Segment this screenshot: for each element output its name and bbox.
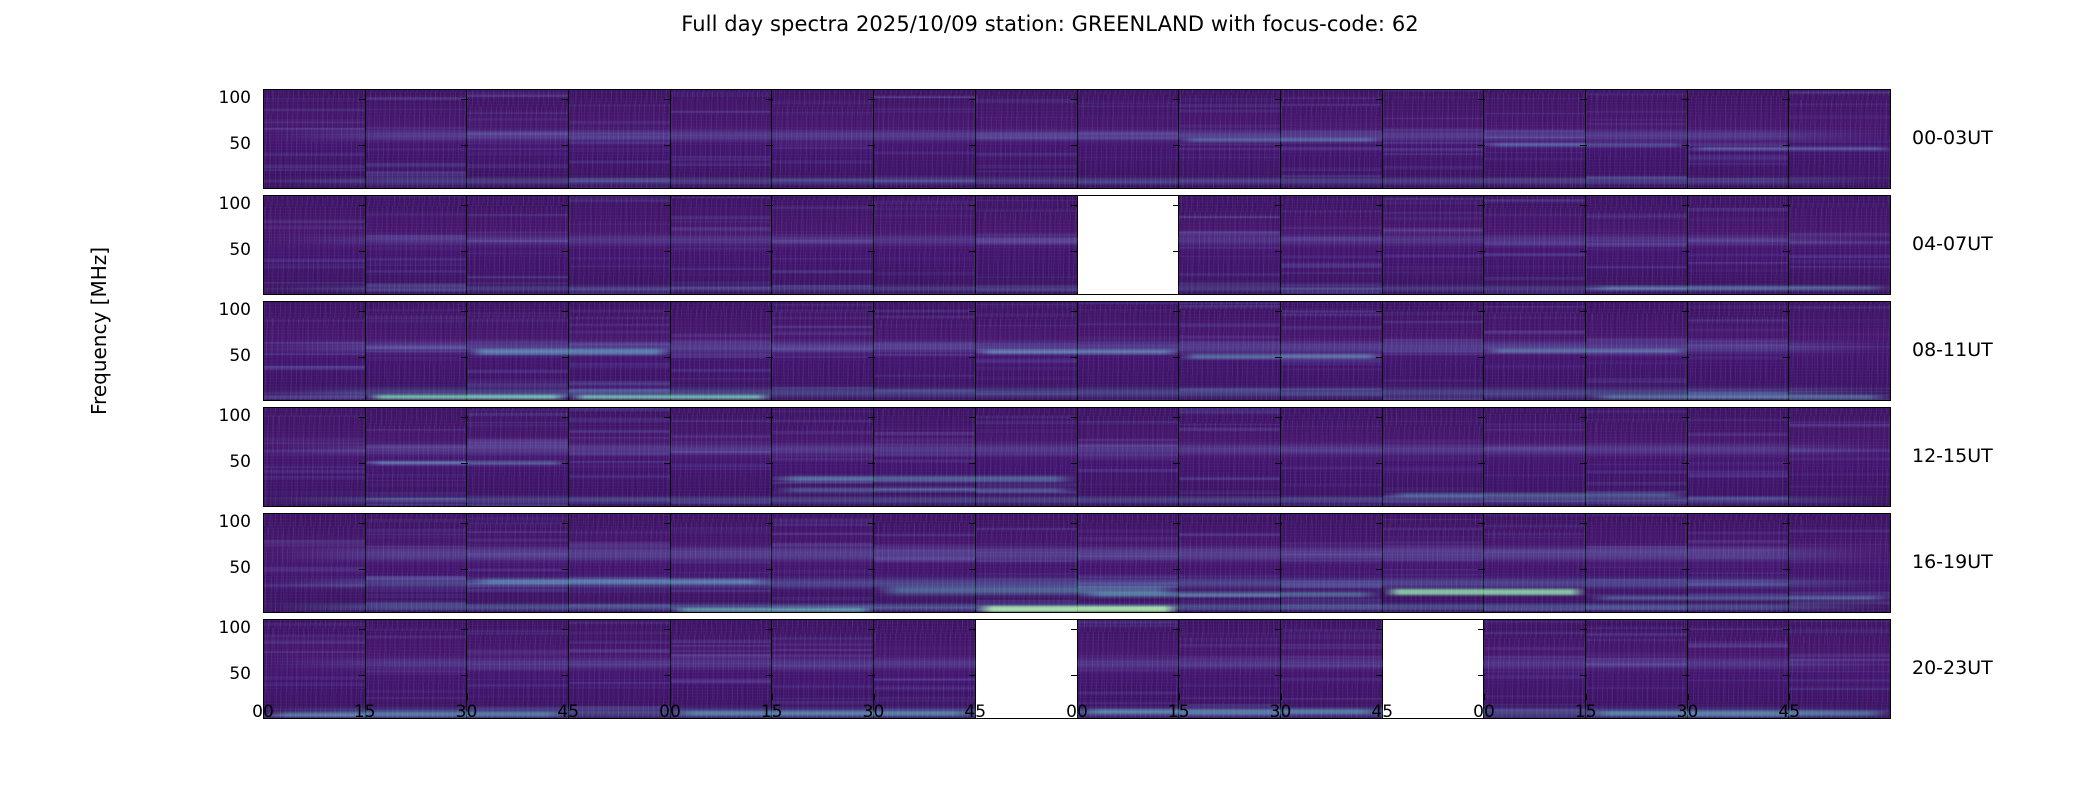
panel-spectrogram (976, 196, 1078, 294)
spectral-streak (1281, 256, 1382, 258)
spectral-streak (366, 576, 467, 579)
panel-noise-base (264, 408, 366, 506)
spectral-streak (467, 231, 568, 234)
spectral-streak (1789, 399, 1890, 400)
spectral-streak (1078, 711, 1179, 713)
spectral-streak (772, 285, 873, 287)
panel-noise-base (1586, 196, 1688, 294)
y-tick-mark-inner (1783, 357, 1790, 358)
spectral-streak (874, 440, 975, 441)
spectral-streak (1586, 605, 1687, 606)
panel-noise-speckle (976, 408, 1078, 506)
spectral-streak (874, 310, 975, 312)
panel-spectrogram (1484, 302, 1586, 400)
spectral-streak (874, 679, 975, 681)
spectral-streak (1179, 595, 1280, 598)
spectral-streak (874, 316, 975, 318)
panel-noise-speckle (1179, 196, 1281, 294)
panel-noise-speckle (1281, 302, 1383, 400)
panel-noise-speckle (874, 620, 976, 718)
spectral-streak (1688, 643, 1789, 644)
spectral-streak (671, 334, 772, 336)
spectrogram-row (263, 301, 1891, 401)
y-tick-mark-inner (1580, 251, 1587, 252)
spectral-streak (1484, 537, 1585, 538)
spectral-streak (976, 430, 1077, 432)
spectral-streak (1688, 219, 1789, 220)
spectral-streak (1484, 242, 1585, 244)
spectral-streak (366, 429, 467, 431)
panel-noise-base (874, 620, 976, 718)
panel-spectrogram (264, 302, 366, 400)
spectral-streak (1383, 142, 1484, 144)
spectral-streak (1688, 254, 1789, 255)
spectral-streak (772, 271, 873, 273)
panel-noise-base (1789, 196, 1890, 294)
spectral-streak (1179, 125, 1280, 126)
panel-spectrogram (1179, 514, 1281, 612)
spectral-streak (1281, 571, 1382, 573)
spectral-streak (1586, 94, 1687, 96)
spectral-streak (264, 567, 365, 570)
spectral-streak (1179, 247, 1280, 249)
spectral-streak (264, 498, 365, 499)
y-tick-mark-inner (969, 251, 976, 252)
spectral-streak (976, 133, 1077, 135)
spectral-streak (671, 654, 772, 656)
spectral-streak (1789, 260, 1890, 263)
y-tick-mark-inner (969, 99, 976, 100)
spectral-streak (671, 340, 772, 343)
panel-noise-base (874, 302, 976, 400)
spectral-streak (1078, 157, 1179, 159)
spectral-streak (1688, 473, 1789, 476)
spectral-streak (467, 583, 568, 585)
spectral-streak (467, 153, 568, 155)
y-tick-mark-inner (1682, 523, 1689, 524)
spectral-streak (467, 440, 568, 443)
spectral-streak (976, 349, 1077, 352)
panel-spectrogram (1688, 514, 1790, 612)
spectral-streak (1484, 306, 1585, 308)
spectral-streak (366, 629, 467, 630)
panel-spectrogram (1688, 408, 1790, 506)
spectral-streak (1179, 98, 1280, 100)
x-tick-mark (1281, 694, 1282, 700)
spectral-streak (467, 394, 568, 396)
spectral-streak (264, 392, 365, 394)
spectral-streak (1078, 586, 1179, 588)
spectral-streak (366, 534, 467, 535)
spectral-streak (467, 95, 568, 97)
spectral-streak (467, 679, 568, 680)
spectral-streak (1078, 102, 1179, 104)
x-tick-label: 15 (1575, 702, 1597, 722)
spectral-streak (671, 640, 772, 643)
spectral-streak (671, 378, 772, 380)
spectral-streak (772, 325, 873, 328)
spectral-streak (1789, 458, 1890, 461)
y-tick-mark-inner (868, 417, 875, 418)
panel-spectrogram (1484, 196, 1586, 294)
spectral-streak (1383, 212, 1484, 214)
spectral-streak (1179, 357, 1280, 359)
spectral-streak (671, 531, 772, 533)
spectral-streak (1281, 227, 1382, 229)
y-tick-mark-inner (1173, 145, 1180, 146)
spectral-streak (1789, 598, 1890, 599)
panel-noise-speckle (366, 620, 468, 718)
spectral-streak (569, 475, 670, 478)
spectral-streak (1484, 424, 1585, 425)
spectral-streak (366, 235, 467, 237)
spectral-streak (772, 312, 873, 314)
spectral-streak (671, 197, 772, 198)
spectral-streak (467, 282, 568, 284)
panel-spectrogram (671, 196, 773, 294)
spectral-streak (1484, 152, 1585, 153)
spectral-streak (366, 213, 467, 216)
spectral-streak (1179, 638, 1280, 641)
spectral-streak (569, 363, 670, 366)
spectral-streak (264, 540, 365, 542)
spectral-streak (976, 600, 1077, 603)
spectral-streak (1688, 572, 1789, 574)
panel-noise-speckle (1789, 196, 1890, 294)
spectral-streak (976, 238, 1077, 240)
spectral-streak (1078, 665, 1179, 666)
spectral-streak (366, 309, 467, 311)
panel-spectrogram (1484, 408, 1586, 506)
spectral-streak (1484, 214, 1585, 216)
spectral-streak (569, 604, 670, 607)
spectral-streak (264, 122, 365, 124)
y-tick-mark-inner (1478, 251, 1485, 252)
spectral-streak (1688, 475, 1789, 476)
panel-spectrogram (1281, 90, 1383, 188)
spectral-streak (1179, 256, 1280, 257)
spectral-streak (671, 503, 772, 504)
panel-spectrogram (569, 514, 671, 612)
spectral-streak (1281, 363, 1382, 364)
spectral-streak (976, 304, 1077, 305)
y-tick-mark-inner (1173, 357, 1180, 358)
spectral-streak (569, 531, 670, 534)
panel-spectrogram (1789, 302, 1890, 400)
spectral-streak (467, 137, 568, 138)
spectral-streak (976, 171, 1077, 173)
spectral-streak (1688, 357, 1789, 359)
spectral-streak (671, 562, 772, 563)
spectral-streak (1789, 241, 1890, 244)
spectral-streak (1281, 585, 1382, 588)
spectral-streak (1179, 157, 1280, 158)
x-tick-label: 45 (964, 702, 986, 722)
spectral-streak (874, 678, 975, 679)
y-tick-mark-inner (868, 675, 875, 676)
spectral-streak (1688, 319, 1789, 322)
figure-title: Full day spectra 2025/10/09 station: GRE… (0, 12, 2100, 36)
spectral-streak (467, 313, 568, 314)
y-tick-mark-inner (1783, 629, 1790, 630)
spectral-streak (1484, 447, 1585, 449)
spectral-streak (1383, 505, 1484, 506)
y-tick-mark-inner (766, 311, 773, 312)
spectral-streak (1688, 641, 1789, 643)
spectral-streak (1179, 104, 1280, 107)
y-tick-mark-inner (1783, 417, 1790, 418)
panel-noise-base (569, 514, 671, 612)
spectral-streak (264, 603, 365, 604)
panel-noise-speckle (671, 90, 773, 188)
spectral-streak (1789, 424, 1890, 427)
spectral-streak (976, 573, 1077, 575)
spectral-streak (1484, 253, 1585, 255)
spectral-streak (264, 714, 365, 716)
spectral-streak (1789, 424, 1890, 426)
spectral-streak (1383, 321, 1484, 323)
spectral-streak (976, 136, 1077, 139)
y-tick-mark-inner (1275, 311, 1282, 312)
spectral-streak (1688, 396, 1789, 398)
panel-noise-base (1281, 408, 1383, 506)
panel-noise-speckle (772, 196, 874, 294)
x-tick-mark (467, 694, 468, 700)
spectral-streak (1383, 549, 1484, 552)
panel-spectrogram (874, 620, 976, 718)
panel-noise-speckle (1383, 302, 1485, 400)
spectral-streak (467, 504, 568, 506)
spectral-streak (1179, 534, 1280, 536)
y-tick-mark-inner (1478, 357, 1485, 358)
spectral-streak (671, 369, 772, 372)
spectral-streak (1789, 421, 1890, 423)
spectral-streak (874, 557, 975, 560)
spectral-streak (366, 127, 467, 129)
spectral-streak (1789, 474, 1890, 475)
spectral-streak (976, 234, 1077, 235)
spectral-streak (1688, 645, 1789, 648)
spectral-streak (671, 590, 772, 592)
spectral-streak (569, 389, 670, 391)
spectral-streak (1688, 392, 1789, 395)
spectral-streak (1484, 143, 1585, 145)
spectral-streak (569, 137, 670, 139)
spectral-streak (772, 519, 873, 522)
spectral-streak (467, 445, 568, 448)
spectral-streak (1179, 323, 1280, 325)
y-tick-mark-inner (562, 205, 569, 206)
panel-noise-speckle (366, 408, 468, 506)
spectral-streak (1281, 266, 1382, 268)
spectral-streak (467, 668, 568, 669)
spectral-streak (264, 542, 365, 545)
spectral-streak (1078, 537, 1179, 540)
panel-noise-base (1179, 196, 1281, 294)
spectral-streak (772, 570, 873, 572)
spectral-streak (264, 226, 365, 229)
panel-spectrogram (671, 90, 773, 188)
spectral-streak (772, 698, 873, 699)
y-tick-mark-inner (969, 145, 976, 146)
spectral-streak (1789, 233, 1890, 236)
y-tick-mark-inner (664, 205, 671, 206)
spectral-streak (1078, 458, 1179, 460)
spectral-streak (1383, 266, 1484, 268)
panel-spectrogram (874, 408, 976, 506)
spectral-streak (1484, 137, 1585, 138)
y-tick-mark-inner (562, 357, 569, 358)
spectral-streak (1281, 629, 1382, 632)
panel-spectrogram (467, 196, 569, 294)
spectral-streak (874, 176, 975, 177)
spectral-streak (1078, 444, 1179, 446)
panel-noise-speckle (874, 302, 976, 400)
panel-noise-speckle (976, 514, 1078, 612)
panel-spectrogram (569, 620, 671, 718)
spectral-streak (1281, 288, 1382, 290)
y-tick-mark-inner (766, 145, 773, 146)
spectral-streak (264, 98, 365, 100)
y-tick-mark-inner (1071, 311, 1078, 312)
x-tick-mark (1382, 694, 1383, 700)
y-tick-label: 50 (207, 346, 251, 366)
spectral-streak (1383, 397, 1484, 399)
spectral-streak (1383, 354, 1484, 356)
panel-spectrogram (569, 196, 671, 294)
y-tick-mark-inner (1275, 417, 1282, 418)
spectral-streak (569, 430, 670, 431)
panel-noise-base (467, 196, 569, 294)
row-time-label: 08-11UT (1912, 339, 1993, 361)
spectral-streak (1586, 381, 1687, 383)
spectral-streak (671, 348, 772, 349)
panel-noise-base (1179, 620, 1281, 718)
x-tick-mark (568, 694, 569, 700)
spectral-streak (1281, 369, 1382, 370)
spectral-streak (264, 396, 365, 399)
spectral-streak (1281, 388, 1382, 390)
panel-noise-base (1789, 90, 1890, 188)
spectral-streak (671, 654, 772, 657)
panel-noise-speckle (1484, 408, 1586, 506)
spectral-streak (1586, 607, 1687, 610)
spectral-streak (264, 369, 365, 370)
spectral-streak (569, 367, 670, 368)
spectral-streak (874, 272, 975, 275)
panel-noise-base (976, 408, 1078, 506)
spectral-streak (772, 459, 873, 461)
spectral-streak (976, 609, 1077, 611)
spectral-streak (772, 333, 873, 336)
spectral-streak (1383, 440, 1484, 443)
panel-noise-base (467, 90, 569, 188)
spectral-streak (772, 112, 873, 113)
spectral-streak (264, 639, 365, 641)
spectral-streak (976, 153, 1077, 155)
panel-spectrogram (772, 514, 874, 612)
y-tick-mark-inner (1376, 463, 1383, 464)
panel-noise-base (1789, 408, 1890, 506)
spectral-streak (1789, 266, 1890, 268)
y-tick-mark-inner (1682, 145, 1689, 146)
y-tick-mark-inner (766, 357, 773, 358)
spectral-streak (264, 466, 365, 468)
y-tick-mark-inner (562, 569, 569, 570)
y-tick-label: 50 (207, 240, 251, 260)
spectral-streak (1281, 361, 1382, 362)
spectral-streak (366, 484, 467, 486)
spectral-streak (366, 492, 467, 494)
spectral-streak (1586, 249, 1687, 250)
spectral-streak (976, 578, 1077, 580)
spectral-streak (874, 214, 975, 217)
spectral-streak (976, 491, 1077, 494)
spectral-streak (1586, 595, 1687, 596)
panel-noise-speckle (1078, 302, 1180, 400)
y-tick-mark-inner (1071, 417, 1078, 418)
spectral-streak (1281, 124, 1382, 126)
spectral-streak (1078, 540, 1179, 541)
spectral-streak (1484, 704, 1585, 706)
panel-noise-base (772, 408, 874, 506)
spectral-streak (874, 111, 975, 112)
y-tick-mark-inner (562, 145, 569, 146)
spectral-streak (1281, 497, 1382, 500)
panel-noise-base (1484, 302, 1586, 400)
spectral-streak (671, 420, 772, 422)
spectral-streak (671, 159, 772, 162)
spectral-streak (569, 542, 670, 544)
panel-noise-speckle (1179, 408, 1281, 506)
spectral-streak (1281, 200, 1382, 201)
spectral-streak (1179, 411, 1280, 414)
panel-noise-speckle (1586, 408, 1688, 506)
panel-noise-base (1179, 90, 1281, 188)
panel-strip (264, 514, 1890, 612)
panel-noise-speckle (1789, 302, 1890, 400)
spectral-streak (1688, 302, 1789, 303)
x-tick-label: 00 (252, 702, 274, 722)
y-tick-mark-inner (868, 251, 875, 252)
spectral-streak (467, 316, 568, 318)
y-tick-mark-inner (664, 463, 671, 464)
spectral-streak (366, 498, 467, 500)
spectral-streak (1484, 675, 1585, 678)
y-tick-mark-inner (1275, 145, 1282, 146)
y-tick-mark-inner (969, 675, 976, 676)
spectral-streak (1688, 583, 1789, 585)
spectral-streak (1484, 475, 1585, 476)
panel-noise-base (772, 90, 874, 188)
spectral-streak (1179, 342, 1280, 344)
spectral-streak (671, 682, 772, 683)
spectral-streak (264, 128, 365, 129)
spectral-streak (976, 137, 1077, 140)
panel-noise-speckle (569, 90, 671, 188)
spectral-streak (1383, 312, 1484, 315)
panel-noise-speckle (1078, 408, 1180, 506)
panel-noise-speckle (569, 514, 671, 612)
spectral-streak (1281, 599, 1382, 601)
spectral-streak (1078, 575, 1179, 578)
y-tick-mark-inner (1580, 357, 1587, 358)
spectral-streak (1281, 237, 1382, 240)
spectral-streak (1586, 500, 1687, 501)
panel-noise-speckle (1179, 90, 1281, 188)
spectral-streak (366, 351, 467, 352)
spectral-streak (772, 270, 873, 273)
